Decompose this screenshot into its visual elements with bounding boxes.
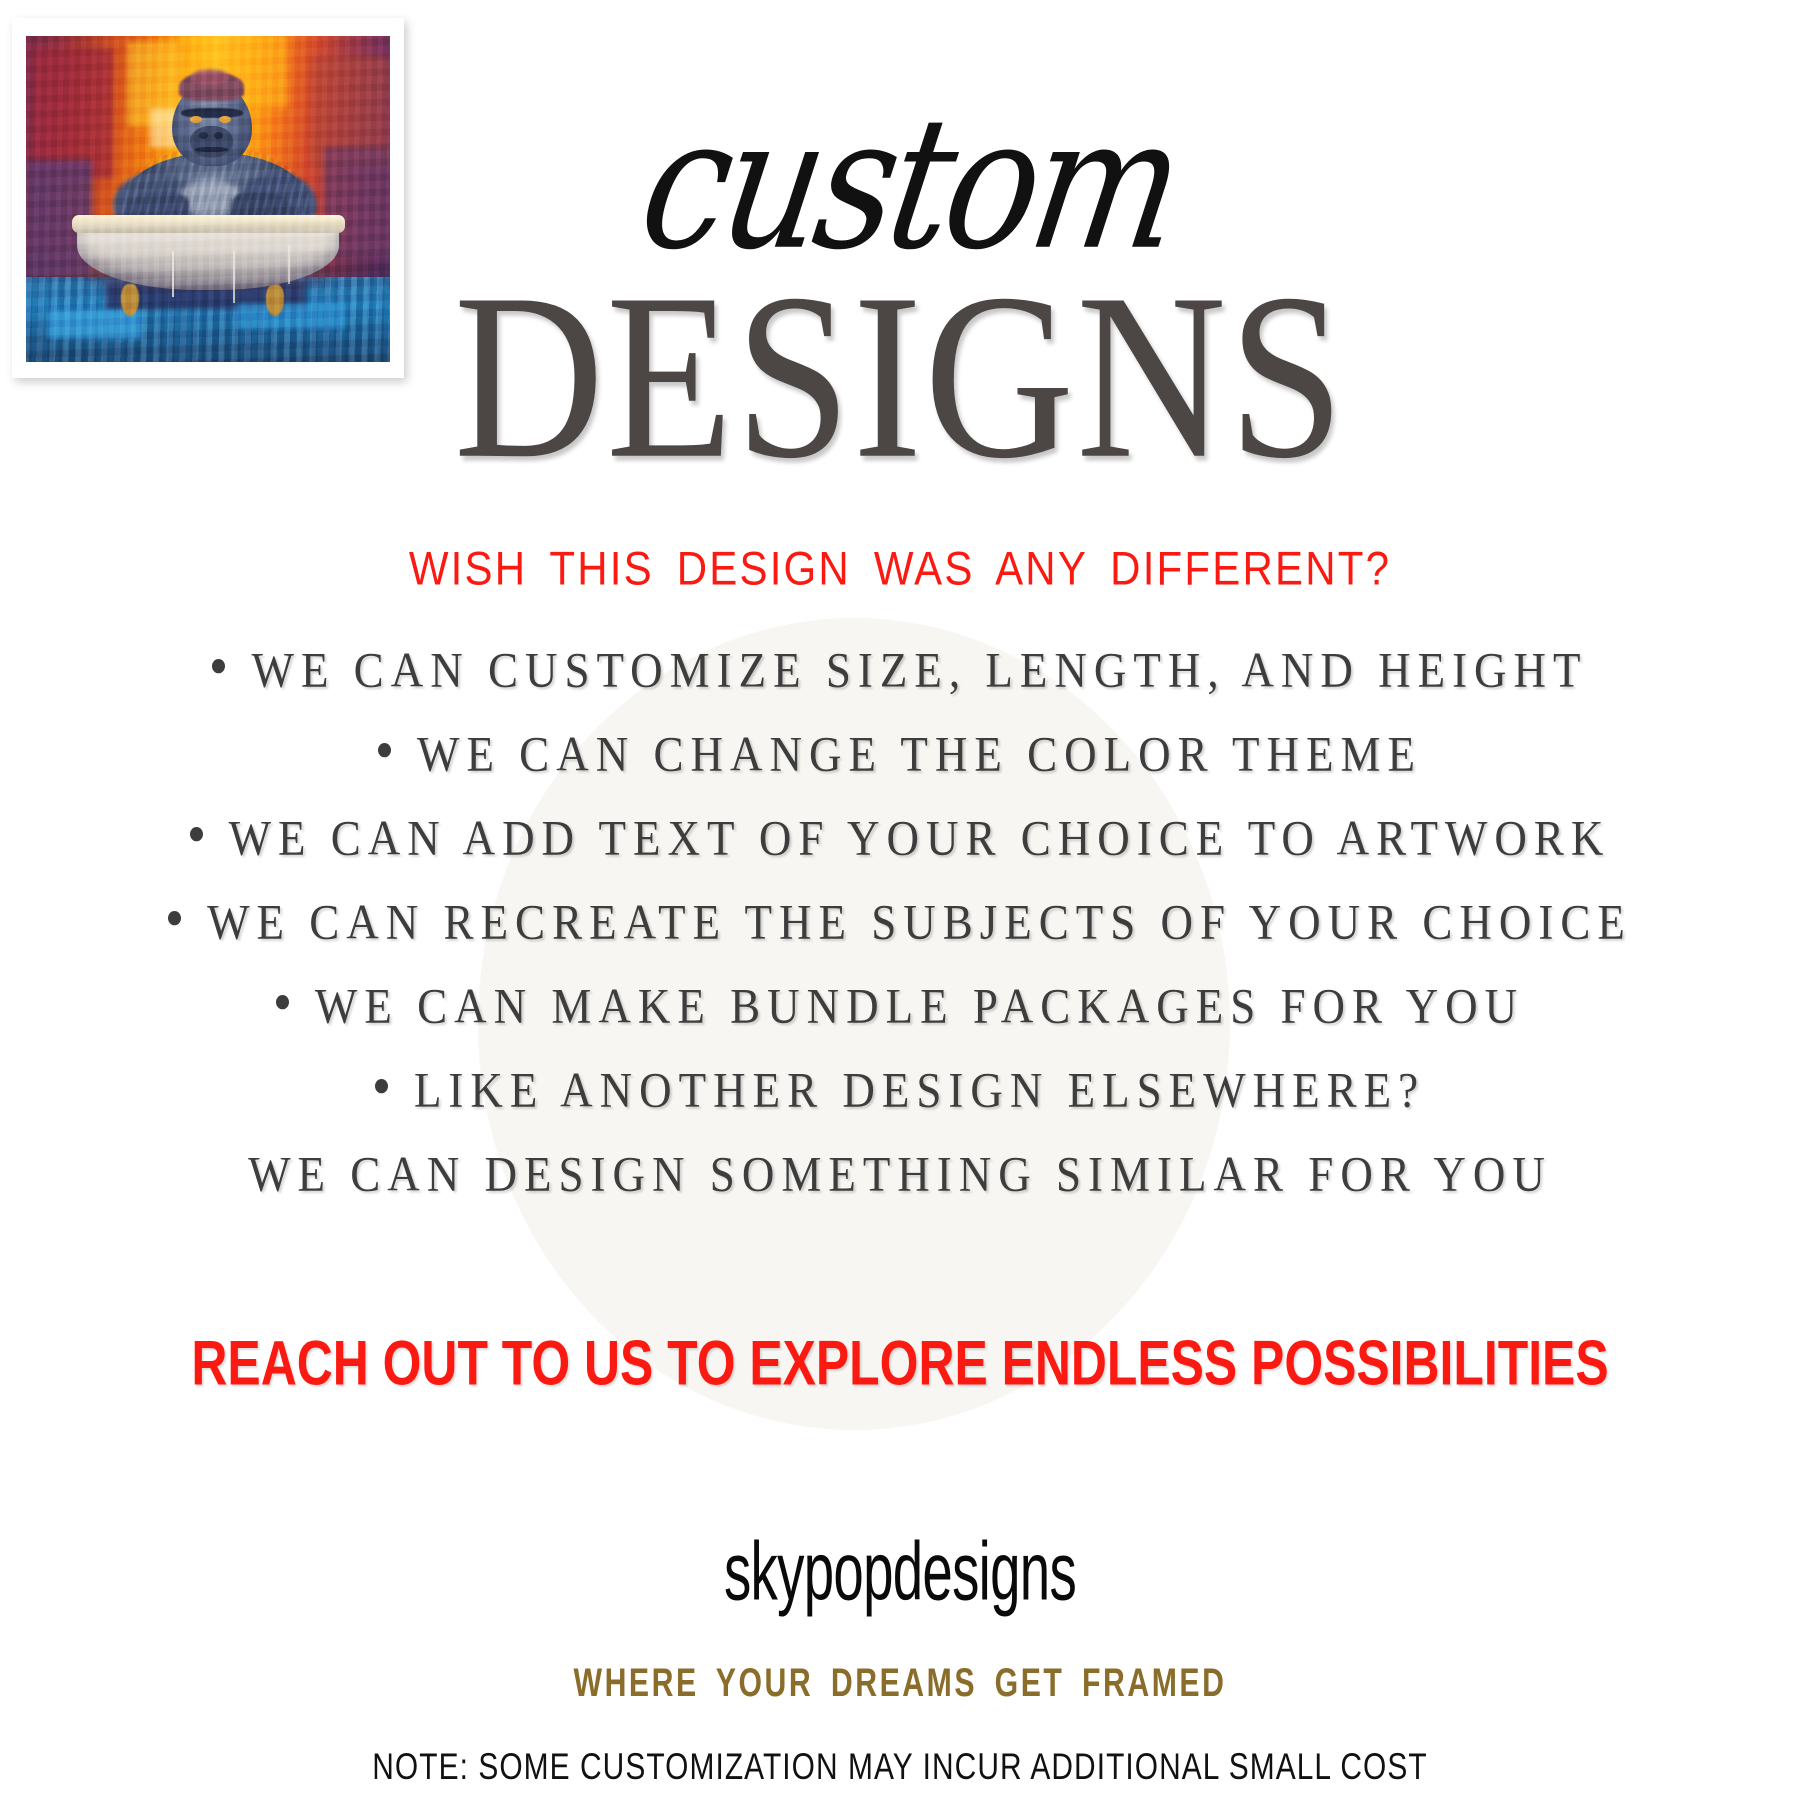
list-item-label: WE CAN RECREATE THE SUBJECTS OF YOUR CHO… [207,898,1632,948]
list-item-label: WE CAN CUSTOMIZE SIZE, LENGTH, AND HEIGH… [251,646,1587,696]
list-item: WE CAN MAKE BUNDLE PACKAGES FOR YOU [0,982,1800,1074]
bullet-dot-icon [190,827,203,841]
list-item: WE CAN CUSTOMIZE SIZE, LENGTH, AND HEIGH… [0,646,1800,738]
list-item-label: WE CAN DESIGN SOMETHING SIMILAR FOR YOU [248,1150,1552,1200]
bullet-dot-icon [168,911,181,925]
bullet-dot-icon [375,1079,388,1093]
list-item: LIKE ANOTHER DESIGN ELSEWHERE? [0,1066,1800,1158]
brand-tagline: WHERE YOUR DREAMS GET FRAMED [144,1660,1656,1706]
list-item-continuation: WE CAN DESIGN SOMETHING SIMILAR FOR YOU [0,1150,1800,1242]
list-item: WE CAN ADD TEXT OF YOUR CHOICE TO ARTWOR… [0,814,1800,906]
bullet-dot-icon [276,995,289,1009]
designs-heading-text: DESIGNS [454,257,1346,494]
list-item-label: WE CAN CHANGE THE COLOR THEME [417,730,1422,780]
subtitle-question: WISH THIS DESIGN WAS ANY DIFFERENT? [0,542,1800,596]
list-item-label: WE CAN MAKE BUNDLE PACKAGES FOR YOU [315,982,1524,1032]
list-item: WE CAN RECREATE THE SUBJECTS OF YOUR CHO… [0,898,1800,990]
list-item-label: LIKE ANOTHER DESIGN ELSEWHERE? [414,1066,1425,1116]
call-to-action-text: REACH OUT TO US TO EXPLORE ENDLESS POSSI… [126,1327,1674,1399]
list-item: WE CAN CHANGE THE COLOR THEME [0,730,1800,822]
list-item-label: WE CAN ADD TEXT OF YOUR CHOICE TO ARTWOR… [229,814,1611,864]
bullet-dot-icon [212,659,225,673]
bottom-note: NOTE: SOME CUSTOMIZATION MAY INCUR ADDIT… [108,1746,1692,1788]
feature-list: WE CAN CUSTOMIZE SIZE, LENGTH, AND HEIGH… [0,650,1800,1238]
custom-script-heading: custom [0,104,1800,264]
brand-wordmark: skypopdesigns [270,1523,1530,1619]
designs-heading: DESIGNS [0,272,1800,480]
bullet-dot-icon [378,743,391,757]
